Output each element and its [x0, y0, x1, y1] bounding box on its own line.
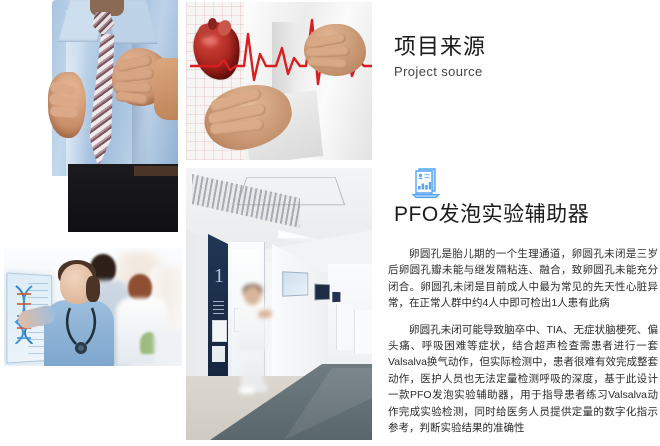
image-collage: 1 [0, 0, 376, 440]
door-sign-secondary [212, 346, 225, 362]
nurse-head [244, 286, 261, 305]
corridor-bay [354, 310, 372, 354]
belt [134, 166, 178, 176]
hospital-corridor-photo: 1 [186, 168, 372, 440]
wall-monitor [332, 292, 340, 302]
door-number: 1 [214, 266, 224, 288]
hospital-bed [154, 330, 182, 366]
report-chart-icon [410, 166, 444, 200]
paragraph-1: 卵圆孔是胎儿期的一个生理通道，卵圆孔未闭是三岁后卵圆孔瓣未能与继发隔粘连、融合，… [388, 246, 658, 312]
foreground-doctor-ponytail [86, 276, 100, 302]
section-label-cn: 项目来源 [394, 34, 486, 60]
section-label-en: Project source [394, 64, 486, 79]
wall-monitor [314, 284, 330, 301]
project-source-block: 项目来源 Project source [394, 34, 486, 79]
body-text: 卵圆孔是胎儿期的一个生理通道，卵圆孔未闭是三岁后卵圆孔瓣未能与继发隔粘连、融合，… [388, 246, 658, 446]
heart-ecg-photo [186, 2, 372, 160]
walking-nurse [234, 286, 270, 396]
man-chest-pain-photo [4, 0, 178, 232]
content-panel: 项目来源 Project source PFO发泡实验辅助器 卵圆孔是胎儿期的一… [376, 0, 660, 440]
finger [50, 106, 79, 118]
nurse-shoe [254, 384, 268, 392]
corridor-bay [336, 304, 353, 350]
nurse-shoe [239, 386, 255, 394]
door-sign [212, 320, 227, 342]
page-title: PFO发泡实验辅助器 [394, 202, 644, 228]
stethoscope-icon [62, 306, 100, 356]
medical-team-dna-photo [4, 248, 182, 366]
nurse-legs [241, 348, 263, 388]
paragraph-2: 卵圆孔未闭可能导致脑卒中、TIA、无症状脑梗死、偏头痛、呼吸困难等症状，结合超声… [388, 322, 658, 437]
right-forearm [154, 58, 178, 120]
ceiling-panel-outline [237, 177, 345, 205]
wall-monitor [282, 271, 308, 296]
door-plate [213, 300, 224, 314]
